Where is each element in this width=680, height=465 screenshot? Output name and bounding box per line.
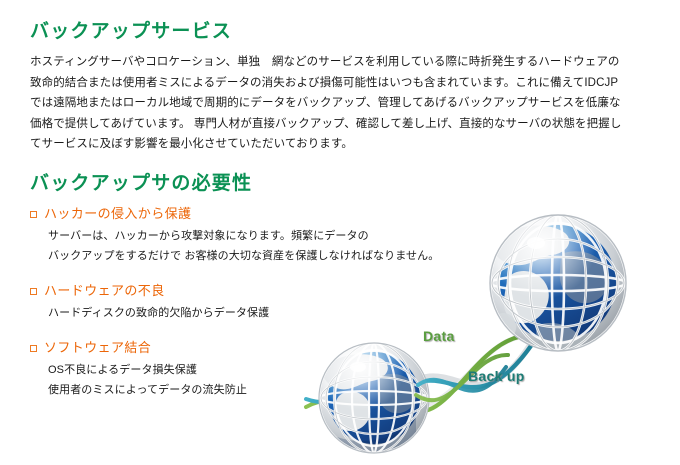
list-item: ハードウェアの不良 ハードディスクの致命的欠陥からデータ保護 xyxy=(28,282,448,323)
caption-backup: Back up xyxy=(468,368,525,384)
intro-line: ホスティングサーバやコロケーション、単独 網などのサービスを利用している際に時折… xyxy=(30,52,650,73)
feature-body-line: ハードディスクの致命的欠陥からデータ保護 xyxy=(48,303,448,323)
square-bullet-icon xyxy=(30,288,37,295)
feature-heading-label: ハードウェアの不良 xyxy=(44,283,165,298)
list-item: ソフトウェア結合 OS不良によるデータ損失保護 使用者のミスによってデータの流失… xyxy=(28,339,448,400)
feature-body: OS不良によるデータ損失保護 使用者のミスによってデータの流失防止 xyxy=(28,360,448,400)
intro-line: では遠隔地またはローカル地域で周期的にデータをバックアップ、管理してあげるバック… xyxy=(30,93,650,114)
feature-body: サーバーは、ハッカーから攻撃対象になります。頻繁にデータの バックアップをするだ… xyxy=(28,226,448,266)
globe-large-icon xyxy=(489,215,626,365)
feature-heading: ハッカーの侵入から保護 xyxy=(28,205,448,223)
intro-line: 価格で提供してあげています。 専門人材が直接バックアップ、確認して差し上げ、直接… xyxy=(30,114,650,135)
feature-body-line: OS不良によるデータ損失保護 xyxy=(48,360,448,380)
intro-line: 致命的結合または使用者ミスによるデータの消失および損傷可能性はいつも含まれていま… xyxy=(30,73,650,94)
square-bullet-icon xyxy=(30,211,37,218)
list-item: ハッカーの侵入から保護 サーバーは、ハッカーから攻撃対象になります。頻繁にデータ… xyxy=(28,205,448,266)
square-bullet-icon xyxy=(30,345,37,352)
feature-heading-label: ハッカーの侵入から保護 xyxy=(44,206,191,221)
feature-list: ハッカーの侵入から保護 サーバーは、ハッカーから攻撃対象になります。頻繁にデータ… xyxy=(28,205,448,414)
page-title: バックアップサービス xyxy=(30,16,232,43)
section-title-necessity: バックアップサの必要性 xyxy=(30,168,252,195)
feature-heading: ソフトウェア結合 xyxy=(28,339,448,357)
feature-body-line: 使用者のミスによってデータの流失防止 xyxy=(48,380,448,400)
feature-heading-label: ソフトウェア結合 xyxy=(44,340,151,355)
feature-body-line: サーバーは、ハッカーから攻撃対象になります。頻繁にデータの xyxy=(48,226,448,246)
intro-line: てサービスに及ぼす影響を最小化させていただいております。 xyxy=(30,134,650,155)
page-root: バックアップサービス ホスティングサーバやコロケーション、単独 網などのサービス… xyxy=(0,0,680,460)
intro-paragraph: ホスティングサーバやコロケーション、単独 網などのサービスを利用している際に時折… xyxy=(30,52,650,155)
feature-body: ハードディスクの致命的欠陥からデータ保護 xyxy=(28,303,448,323)
feature-body-line: バックアップをするだけで お客様の大切な資産を保護しなければなりません。 xyxy=(48,246,448,266)
feature-heading: ハードウェアの不良 xyxy=(28,282,448,300)
